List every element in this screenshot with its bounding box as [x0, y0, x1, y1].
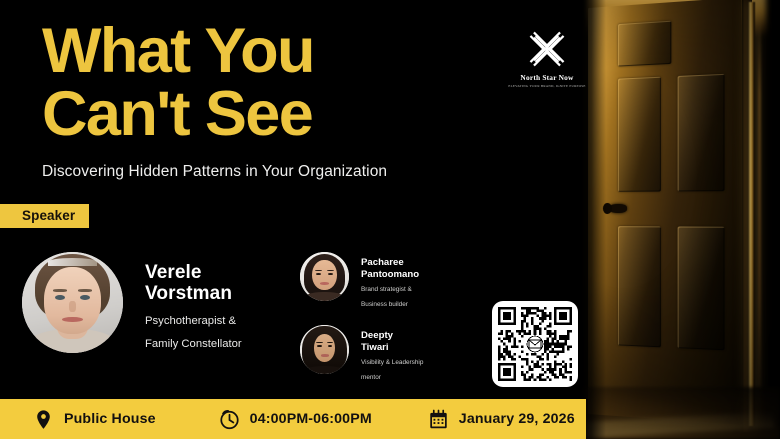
clock-icon	[219, 409, 240, 430]
north-star-x-icon	[526, 28, 568, 70]
secondary-speaker-name-line2: Pantoomano	[361, 269, 419, 281]
main-speaker: Verele Vorstman Psychotherapist & Family…	[22, 252, 242, 353]
main-speaker-role-line1: Psychotherapist &	[145, 314, 242, 328]
door-light-strip	[748, 2, 755, 426]
logo-tagline: ELEVATING YOUR BRAND, IGNITE PURPOSE	[508, 84, 586, 88]
secondary-speaker: Deepty Tiwari Visibility & Leadership me…	[300, 325, 423, 382]
door-leaf	[588, 0, 742, 425]
secondary-speaker-name-line1: Deepty	[361, 330, 423, 342]
page-title: What You Can't See Discovering Hidden Pa…	[42, 22, 512, 181]
open-door-artwork	[580, 0, 780, 439]
avatar	[300, 252, 349, 301]
secondary-speaker-role-line2: Business builder	[361, 301, 419, 310]
secondary-speaker-name-line1: Pacharee	[361, 257, 419, 269]
door-panel-top	[618, 21, 671, 67]
door-panel-lower-right	[678, 226, 725, 350]
main-speaker-name-line1: Verele	[145, 262, 242, 283]
event-poster: What You Can't See Discovering Hidden Pa…	[0, 0, 780, 439]
brand-logo: North Star Now ELEVATING YOUR BRAND, IGN…	[508, 28, 586, 88]
venue-text: Public House	[64, 411, 156, 427]
secondary-speaker-name-line2: Tiwari	[361, 342, 423, 354]
secondary-speaker-role-line1: Visibility & Leadership	[361, 359, 423, 368]
location-pin-icon	[33, 409, 54, 430]
title-line-1: What You	[42, 22, 512, 81]
time-text: 04:00PM-06:00PM	[250, 411, 372, 427]
qr-code-image	[498, 307, 572, 381]
deepty-tiwari-portrait	[300, 325, 349, 374]
time-info: 04:00PM-06:00PM	[219, 409, 372, 430]
pacharee-pantoomano-portrait	[300, 252, 349, 301]
main-speaker-role-line2: Family Constellator	[145, 337, 242, 351]
door-panel-upper-left	[618, 77, 661, 192]
verele-vorstman-portrait	[22, 252, 123, 353]
venue-info: Public House	[33, 409, 156, 430]
qr-code[interactable]	[492, 301, 578, 387]
door-panel-upper-right	[678, 74, 725, 192]
avatar	[22, 252, 123, 353]
logo-name: North Star Now	[508, 73, 586, 82]
page-subtitle: Discovering Hidden Patterns in Your Orga…	[42, 163, 512, 181]
door-panel-lower-left	[618, 226, 661, 347]
avatar	[300, 325, 349, 374]
main-speaker-name-line2: Vorstman	[145, 283, 242, 304]
event-details-bar: Public House 04:00PM-06:00PM	[0, 399, 586, 439]
date-text: January 29, 2026	[459, 411, 575, 427]
door-knob-icon	[608, 204, 627, 213]
secondary-speaker-role-line1: Brand strategist &	[361, 286, 419, 295]
title-line-2: Can't See	[42, 85, 512, 144]
door-light-strip-secondary	[758, 12, 761, 420]
calendar-icon	[428, 409, 449, 430]
speaker-section-badge: Speaker	[0, 204, 89, 228]
secondary-speaker: Pacharee Pantoomano Brand strategist & B…	[300, 252, 419, 309]
date-info: January 29, 2026	[428, 409, 575, 430]
secondary-speaker-role-line2: mentor	[361, 374, 423, 383]
